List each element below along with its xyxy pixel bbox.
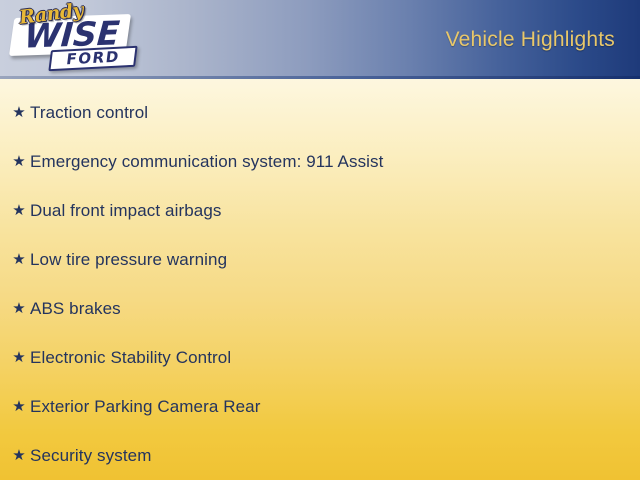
list-item-label: Emergency communication system: 911 Assi… <box>30 152 383 172</box>
list-item: ★ Security system <box>0 431 640 480</box>
list-item-label: Electronic Stability Control <box>30 348 231 368</box>
dealer-logo: Randy WISE FORD <box>6 0 138 78</box>
list-item-label: Dual front impact airbags <box>30 201 221 221</box>
star-icon: ★ <box>8 154 30 169</box>
star-icon: ★ <box>8 301 30 316</box>
list-item: ★ Emergency communication system: 911 As… <box>0 137 640 186</box>
vehicle-highlights-slide: Randy WISE FORD Vehicle Highlights ★ Tra… <box>0 0 640 480</box>
star-icon: ★ <box>8 203 30 218</box>
list-item: ★ Electronic Stability Control <box>0 333 640 382</box>
list-item-label: Low tire pressure warning <box>30 250 227 270</box>
list-item: ★ Exterior Parking Camera Rear <box>0 382 640 431</box>
star-icon: ★ <box>8 252 30 267</box>
list-item-label: Security system <box>30 446 151 466</box>
star-icon: ★ <box>8 350 30 365</box>
list-item: ★ Low tire pressure warning <box>0 235 640 284</box>
list-item: ★ ABS brakes <box>0 284 640 333</box>
list-item: ★ Dual front impact airbags <box>0 186 640 235</box>
logo-banner-word: FORD <box>48 46 137 71</box>
list-item-label: Traction control <box>30 103 148 123</box>
star-icon: ★ <box>8 448 30 463</box>
highlights-list: ★ Traction control ★ Emergency communica… <box>0 88 640 480</box>
list-item: ★ Traction control <box>0 88 640 137</box>
star-icon: ★ <box>8 105 30 120</box>
list-item-label: ABS brakes <box>30 299 121 319</box>
list-item-label: Exterior Parking Camera Rear <box>30 397 261 417</box>
page-title: Vehicle Highlights <box>446 28 615 52</box>
star-icon: ★ <box>8 399 30 414</box>
